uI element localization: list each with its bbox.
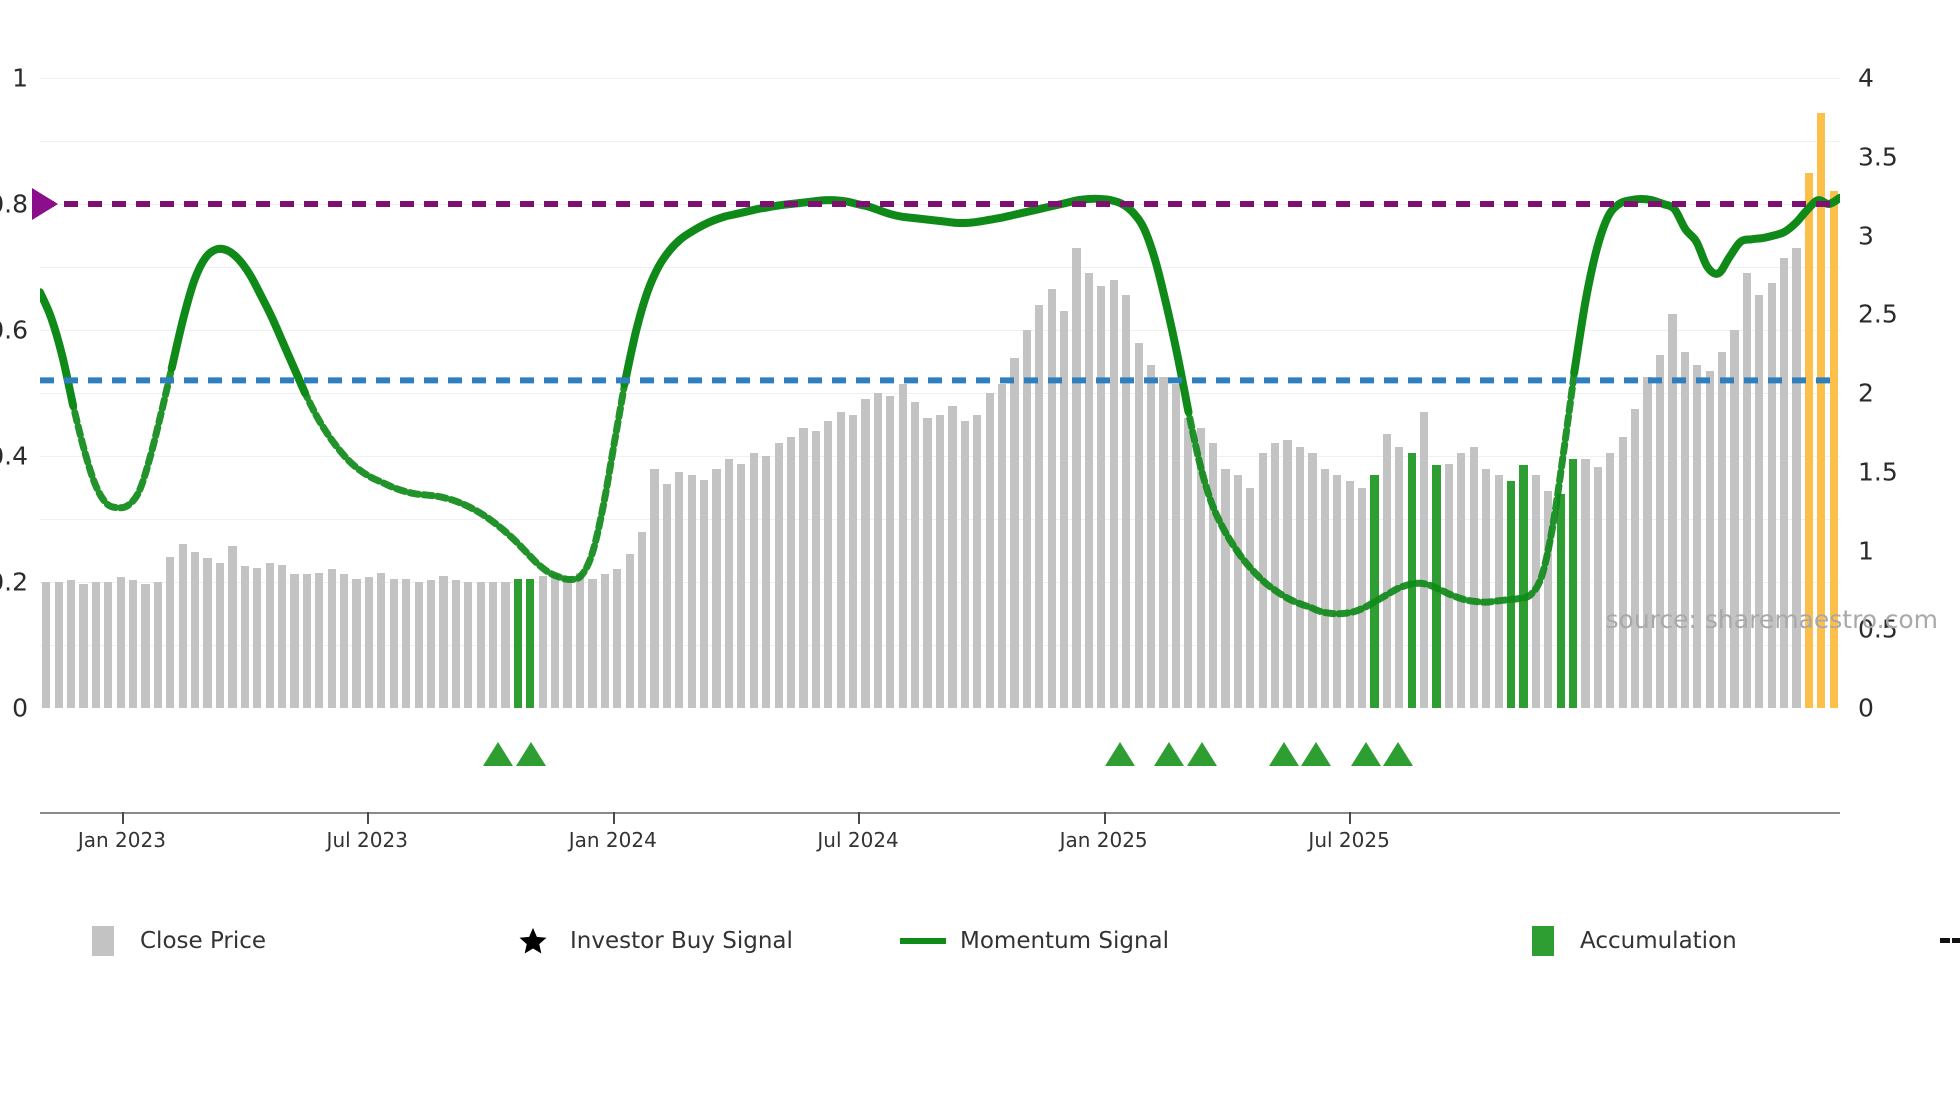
chart-legend: Close PriceInvestor Buy SignalMomentum S…: [80, 925, 1940, 956]
legend-label: Investor Buy Signal: [570, 928, 793, 954]
momentum-signal-segment: [40, 292, 73, 405]
legend-item-momentum-signal[interactable]: Momentum Signal: [900, 925, 1520, 956]
y-axis-right-tick-label: 1: [1858, 536, 1874, 565]
legend-item-model-watching[interactable]: Model Watching: [1940, 925, 1960, 956]
y-axis-right-tick-label: 2.5: [1858, 300, 1898, 329]
chart-root: 00.20.40.60.81 00.511.522.533.54 Jan 202…: [0, 0, 1960, 1102]
accumulation-triangle-marker: [516, 742, 546, 766]
accumulation-triangle-marker: [1154, 742, 1184, 766]
y-axis-left-tick-label: 0.6: [0, 316, 28, 345]
momentum-signal-segment: [172, 249, 305, 393]
accumulation-marker-row: [0, 742, 1960, 782]
x-axis-tick: [858, 812, 860, 824]
model-watching-segment: [1188, 368, 1575, 614]
model-watching-segment: [304, 380, 625, 579]
y-axis-left-tick-label: 1: [12, 64, 28, 93]
x-axis-tick-label: Jul 2023: [327, 828, 408, 852]
model-watching-dash-icon: [1940, 938, 1960, 943]
x-axis-tick-label: Jan 2025: [1060, 828, 1148, 852]
x-axis-tick: [1104, 812, 1106, 824]
y-axis-left-tick-label: 0.8: [0, 190, 28, 219]
y-axis-left-tick-label: 0.4: [0, 442, 28, 471]
legend-item-accumulation-bar[interactable]: Accumulation: [1520, 925, 1940, 956]
legend-item-close-price[interactable]: Close Price: [80, 925, 510, 956]
accumulation-triangle-marker: [1351, 742, 1381, 766]
x-axis-line: [40, 812, 1840, 814]
momentum-line-icon: [900, 938, 946, 944]
y-axis-right-tick-label: 4: [1858, 64, 1874, 93]
accumulation-triangle-marker: [483, 742, 513, 766]
accumulation-triangle-marker: [1105, 742, 1135, 766]
legend-label: Close Price: [140, 928, 266, 954]
accumulation-triangle-marker: [1269, 742, 1299, 766]
x-axis-tick: [367, 812, 369, 824]
x-axis-tick-label: Jul 2024: [817, 828, 898, 852]
accumulation-triangle-marker: [1187, 742, 1217, 766]
demand-threshold-marker: [32, 188, 58, 220]
accumulation-triangle-marker: [1301, 742, 1331, 766]
y-axis-right-tick-label: 0: [1858, 694, 1874, 723]
source-note: source: sharemaestro.com: [1606, 605, 1939, 634]
legend-label: Momentum Signal: [960, 928, 1169, 954]
investor-buy-star-icon: [516, 926, 550, 956]
momentum-signal-segment: [1574, 198, 1840, 373]
y-axis-right-tick-label: 3.5: [1858, 142, 1898, 171]
y-axis-left-tick-label: 0.2: [0, 568, 28, 597]
legend-label: Accumulation: [1580, 928, 1737, 954]
momentum-overlay: [40, 78, 1840, 708]
model-watching-segment: [72, 365, 172, 508]
x-axis-tick: [613, 812, 615, 824]
close-price-swatch-icon: [92, 926, 114, 956]
x-axis-tick-label: Jan 2024: [569, 828, 657, 852]
accumulation-triangle-marker: [1383, 742, 1413, 766]
plot-area: [40, 78, 1840, 708]
x-axis-tick: [122, 812, 124, 824]
y-axis-right-tick-label: 3: [1858, 221, 1874, 250]
x-axis-tick-label: Jul 2025: [1308, 828, 1389, 852]
x-axis-tick: [1349, 812, 1351, 824]
x-axis-tick-label: Jan 2023: [78, 828, 166, 852]
legend-item-investor-buy-signal[interactable]: Investor Buy Signal: [510, 925, 900, 956]
y-axis-right-tick-label: 1.5: [1858, 457, 1898, 486]
y-axis-right-tick-label: 2: [1858, 379, 1874, 408]
y-axis-left-tick-label: 0: [12, 694, 28, 723]
accumulation-swatch-icon: [1532, 926, 1554, 956]
